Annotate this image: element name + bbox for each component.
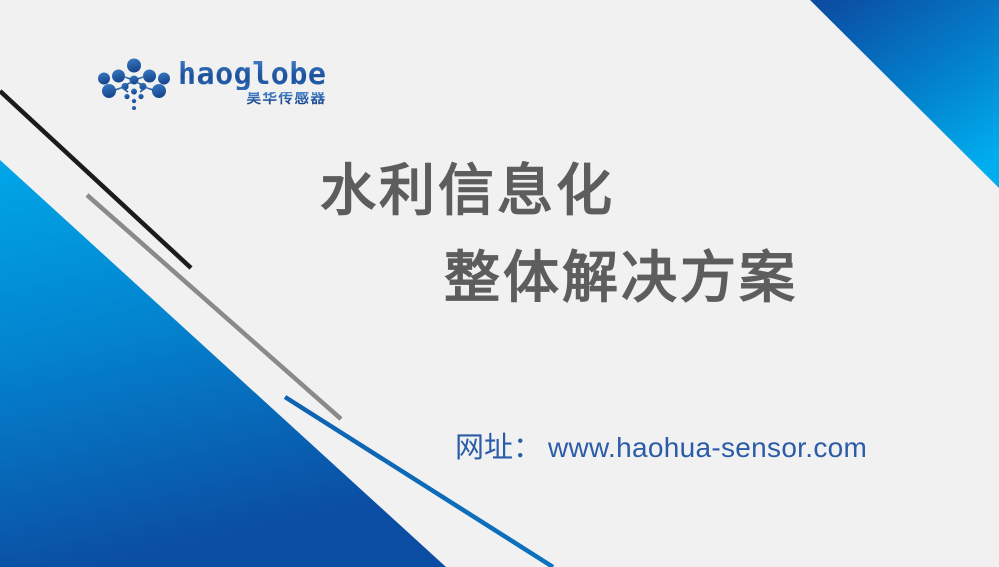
company-logo: haoglobe 昊华传感器: [96, 58, 324, 120]
url-label: 网址：: [455, 424, 542, 466]
logo-wordmark: haoglobe: [178, 60, 327, 90]
website-url-row: 网址： www.haohua-sensor.com: [455, 424, 867, 466]
page-title: 水利信息化 整体解决方案: [0, 160, 999, 309]
logo-text-group: haoglobe 昊华传感器: [178, 58, 327, 108]
logo-subtitle: 昊华传感器: [247, 92, 327, 108]
title-line-2: 整体解决方案: [444, 247, 999, 310]
url-value[interactable]: www.haohua-sensor.com: [548, 432, 867, 464]
presentation-title-slide: haoglobe 昊华传感器 水利信息化 整体解决方案 网址： www.haoh…: [0, 0, 999, 567]
molecular-network-icon: [96, 58, 172, 116]
title-line-1: 水利信息化: [320, 160, 999, 223]
